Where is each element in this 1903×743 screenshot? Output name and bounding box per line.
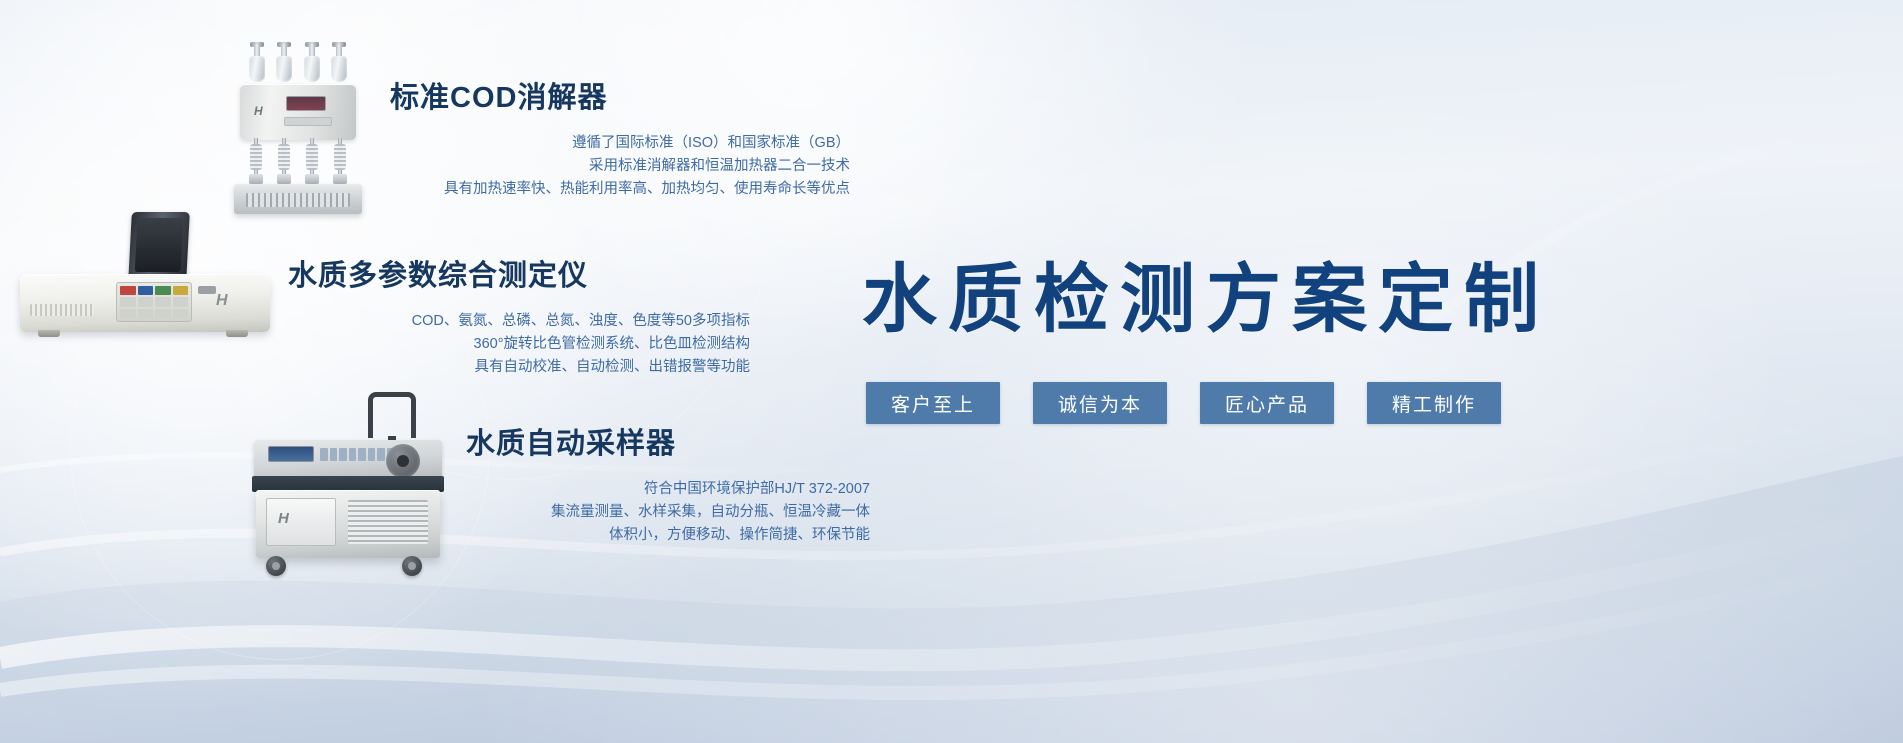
product-block-multi-parameter-analyzer: 水质多参数综合测定仪 COD、氨氮、总磷、总氮、浊度、色度等50多项指标 360…	[288, 252, 750, 379]
product-description: 符合中国环境保护部HJ/T 372-2007 集流量测量、水样采集，自动分瓶、恒…	[466, 478, 870, 547]
product-description-line: COD、氨氮、总磷、总氮、浊度、色度等50多项指标	[288, 310, 750, 333]
badge-list: 客户至上 诚信为本 匠心产品 精工制作	[866, 382, 1501, 424]
badge-fine-manufacturing[interactable]: 精工制作	[1367, 382, 1501, 424]
banner-root: H H	[0, 0, 1903, 743]
product-description: 遵循了国际标准（ISO）和国家标准（GB） 采用标准消解器和恒温加热器二合一技术…	[390, 132, 850, 201]
badge-craftsmanship[interactable]: 匠心产品	[1200, 382, 1334, 424]
badge-integrity[interactable]: 诚信为本	[1033, 382, 1167, 424]
product-description-line: 体积小，方便移动、操作简捷、环保节能	[466, 524, 870, 547]
product-title: 标准COD消解器	[390, 74, 850, 116]
product-description-line: 具有加热速率快、热能利用率高、加热均匀、使用寿命长等优点	[390, 178, 850, 201]
product-description-line: 集流量测量、水样采集，自动分瓶、恒温冷藏一体	[466, 501, 870, 524]
product-description: COD、氨氮、总磷、总氮、浊度、色度等50多项指标 360°旋转比色管检测系统、…	[288, 310, 750, 379]
product-title: 水质自动采样器	[466, 420, 870, 462]
product-title: 水质多参数综合测定仪	[288, 252, 750, 294]
product-description-line: 采用标准消解器和恒温加热器二合一技术	[390, 155, 850, 178]
product-block-auto-water-sampler: 水质自动采样器 符合中国环境保护部HJ/T 372-2007 集流量测量、水样采…	[466, 420, 870, 547]
product-list: 标准COD消解器 遵循了国际标准（ISO）和国家标准（GB） 采用标准消解器和恒…	[0, 0, 900, 743]
product-description-line: 符合中国环境保护部HJ/T 372-2007	[466, 478, 870, 501]
product-description-line: 遵循了国际标准（ISO）和国家标准（GB）	[390, 132, 850, 155]
product-description-line: 具有自动校准、自动检测、出错报警等功能	[288, 356, 750, 379]
badge-customer-first[interactable]: 客户至上	[866, 382, 1000, 424]
product-block-cod-digester: 标准COD消解器 遵循了国际标准（ISO）和国家标准（GB） 采用标准消解器和恒…	[390, 74, 850, 201]
product-description-line: 360°旋转比色管检测系统、比色皿检测结构	[288, 333, 750, 356]
banner-headline: 水质检测方案定制	[862, 238, 1882, 347]
